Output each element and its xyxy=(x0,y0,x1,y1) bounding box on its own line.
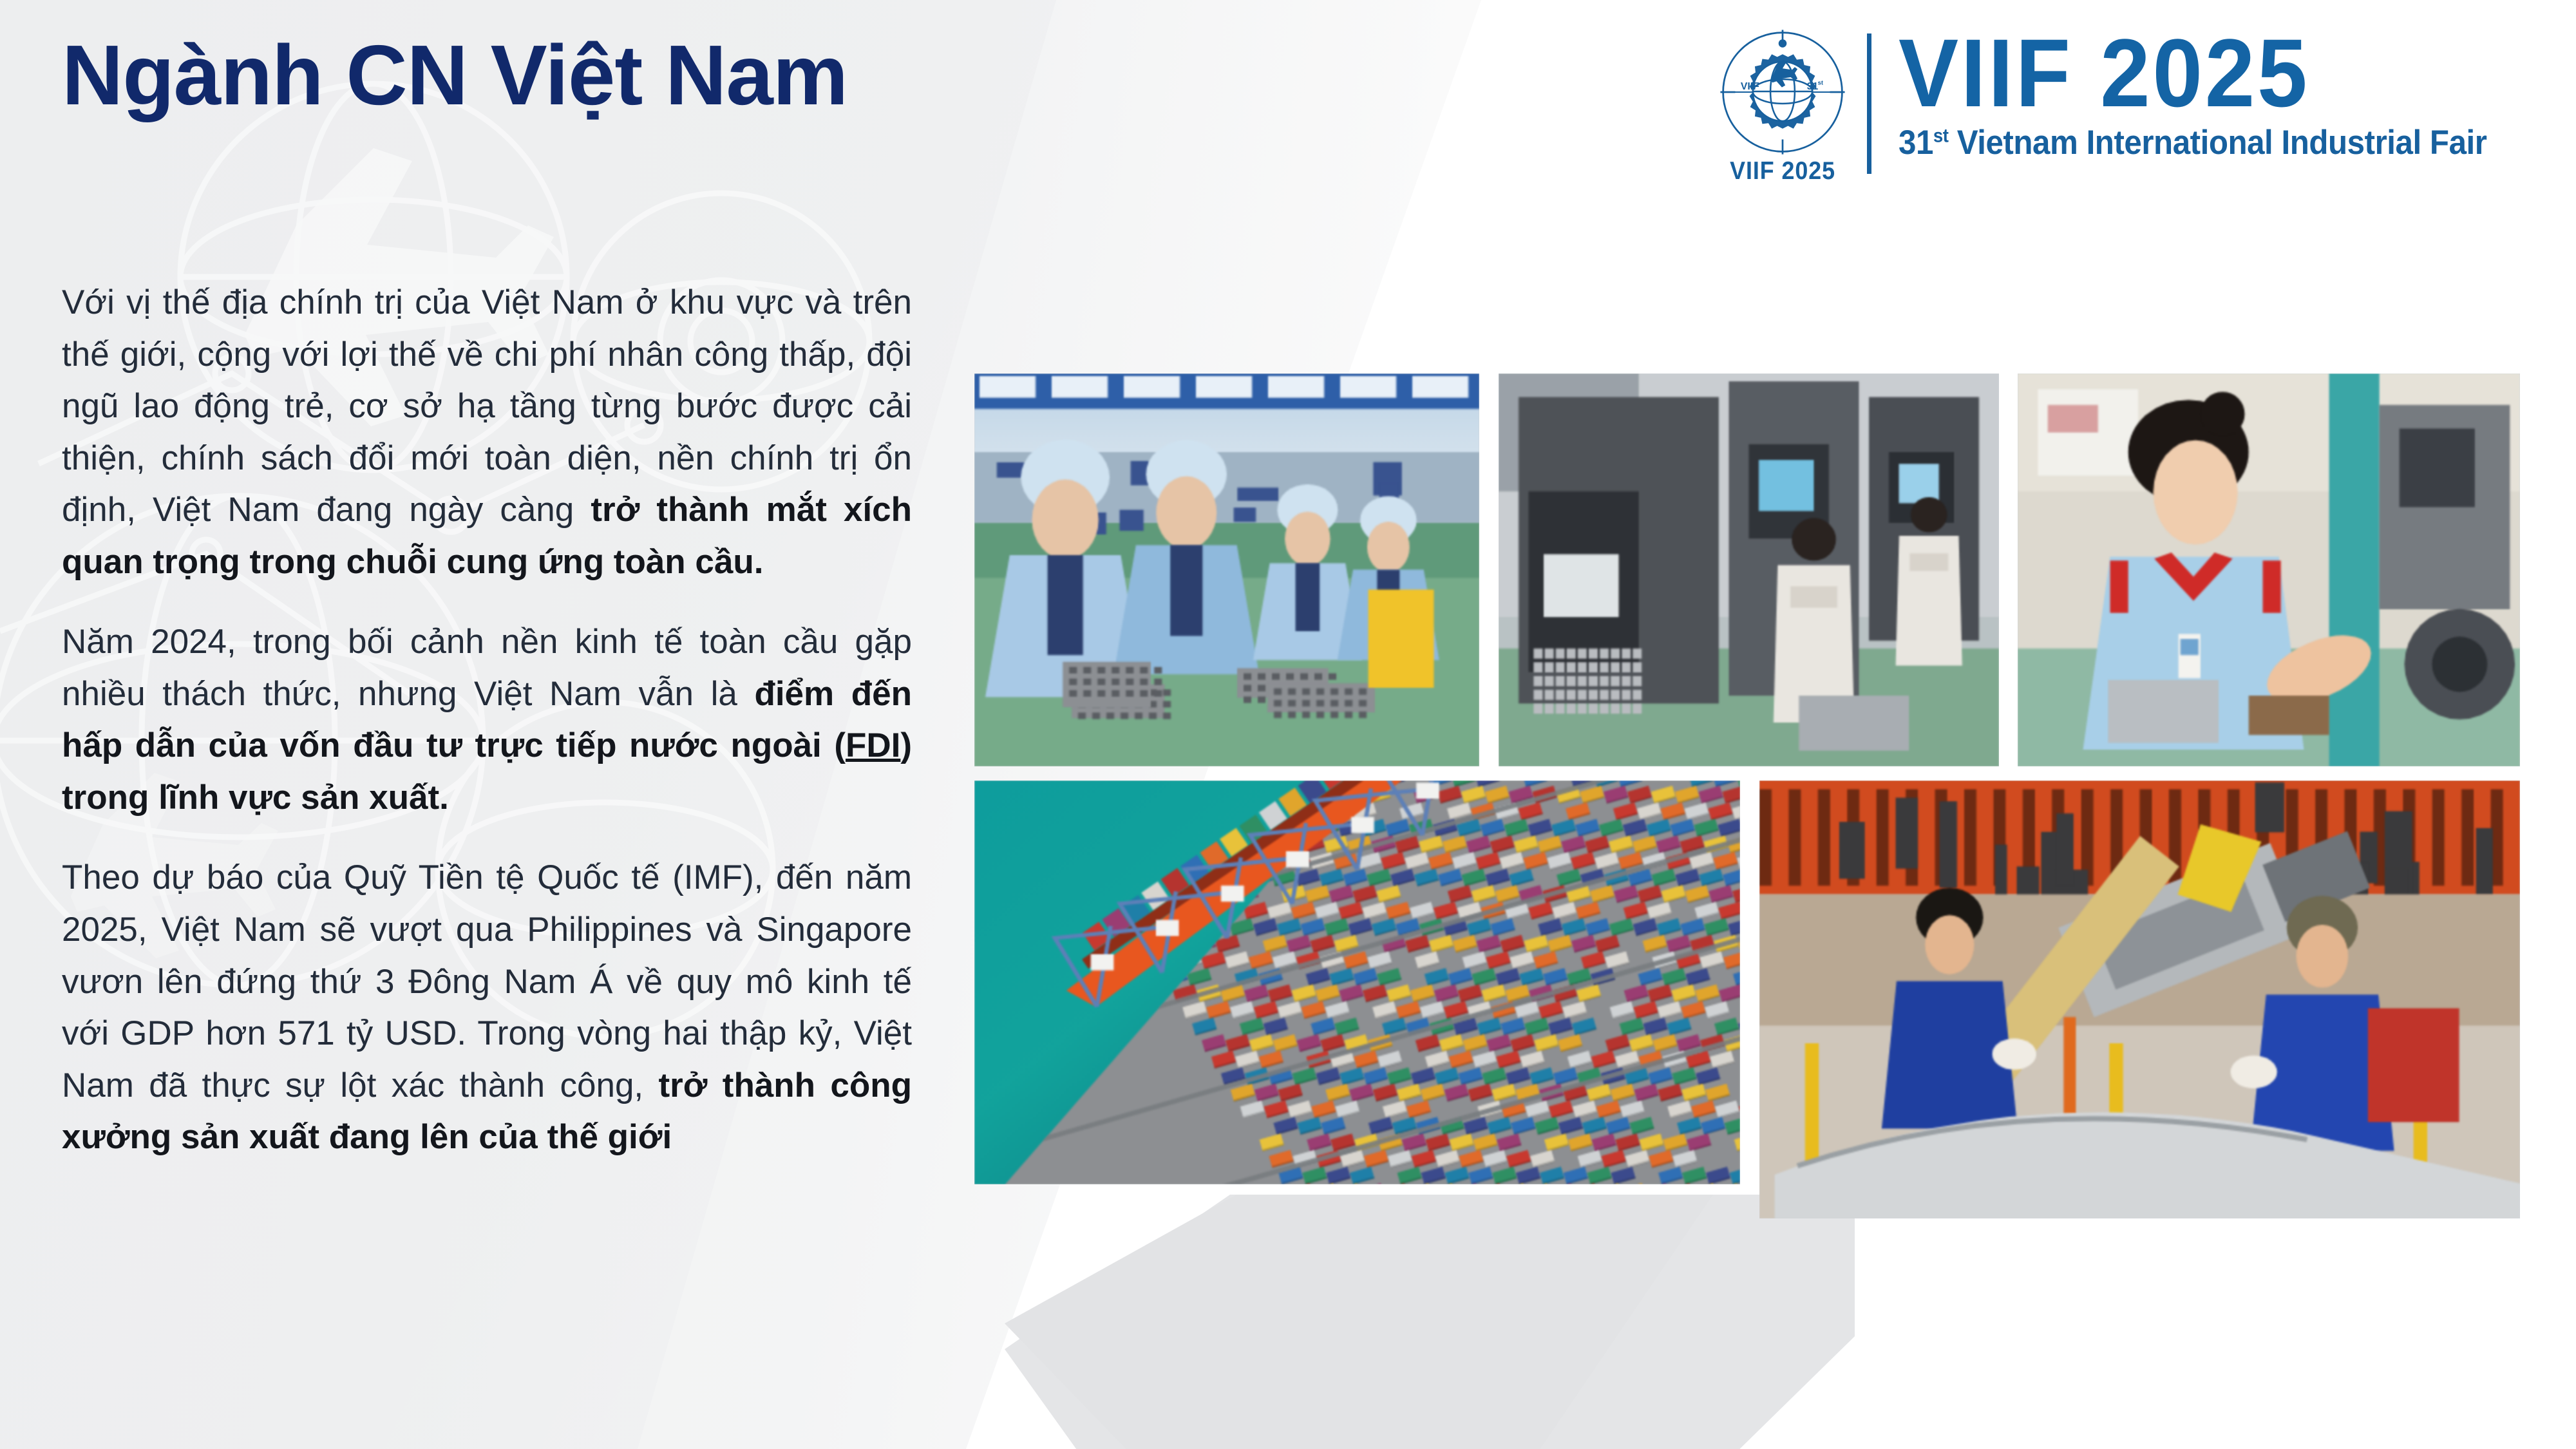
emblem-caption: VIIF 2025 xyxy=(1730,157,1835,185)
photo-mechanical-assembly xyxy=(2018,374,2520,766)
viif-wordmark: VIIF 2025 xyxy=(1899,27,2486,119)
logo-divider xyxy=(1867,33,1871,174)
paragraph-geopolitics: Với vị thế địa chính trị của Việt Nam ở … xyxy=(62,277,912,588)
body-text-column: Với vị thế địa chính trị của Việt Nam ở … xyxy=(62,277,912,1164)
viif-emblem: VIIF 31 st VIIF 2025 xyxy=(1702,24,1863,185)
fdi-abbreviation: FDI xyxy=(846,726,900,764)
para-1-bold-underline: FDI xyxy=(846,726,900,764)
svg-text:st: st xyxy=(1817,79,1823,86)
tagline-prefix: 31 xyxy=(1899,124,1933,162)
svg-text:31: 31 xyxy=(1807,81,1819,92)
paragraph-fdi: Năm 2024, trong bối cảnh nền kinh tế toà… xyxy=(62,616,912,824)
paragraph-imf: Theo dự báo của Quỹ Tiền tệ Quốc tế (IMF… xyxy=(62,852,912,1163)
slide-header: Ngành CN Việt Nam xyxy=(0,0,2576,200)
viif-logo-block: VIIF 31 st VIIF 2025 VIIF 2025 31st Viet… xyxy=(1702,24,2531,185)
svg-text:VIIF: VIIF xyxy=(1741,81,1759,92)
photo-electronics-assembly xyxy=(974,374,1479,766)
photo-cnc-machining xyxy=(1499,374,1999,766)
logo-text-wrap: VIIF 2025 31st Vietnam International Ind… xyxy=(1899,24,2531,162)
page-title: Ngành CN Việt Nam xyxy=(62,31,848,120)
photo-container-port xyxy=(974,781,1740,1184)
viif-tagline: 31st Vietnam International Industrial Fa… xyxy=(1899,123,2486,162)
globe-gear-emblem-icon: VIIF 31 st xyxy=(1715,24,1850,160)
photo-grid xyxy=(974,374,2520,1201)
tagline-rest: Vietnam International Industrial Fair xyxy=(1948,124,2486,162)
tagline-sup: st xyxy=(1933,125,1949,146)
photo-automotive-line xyxy=(1759,781,2520,1218)
